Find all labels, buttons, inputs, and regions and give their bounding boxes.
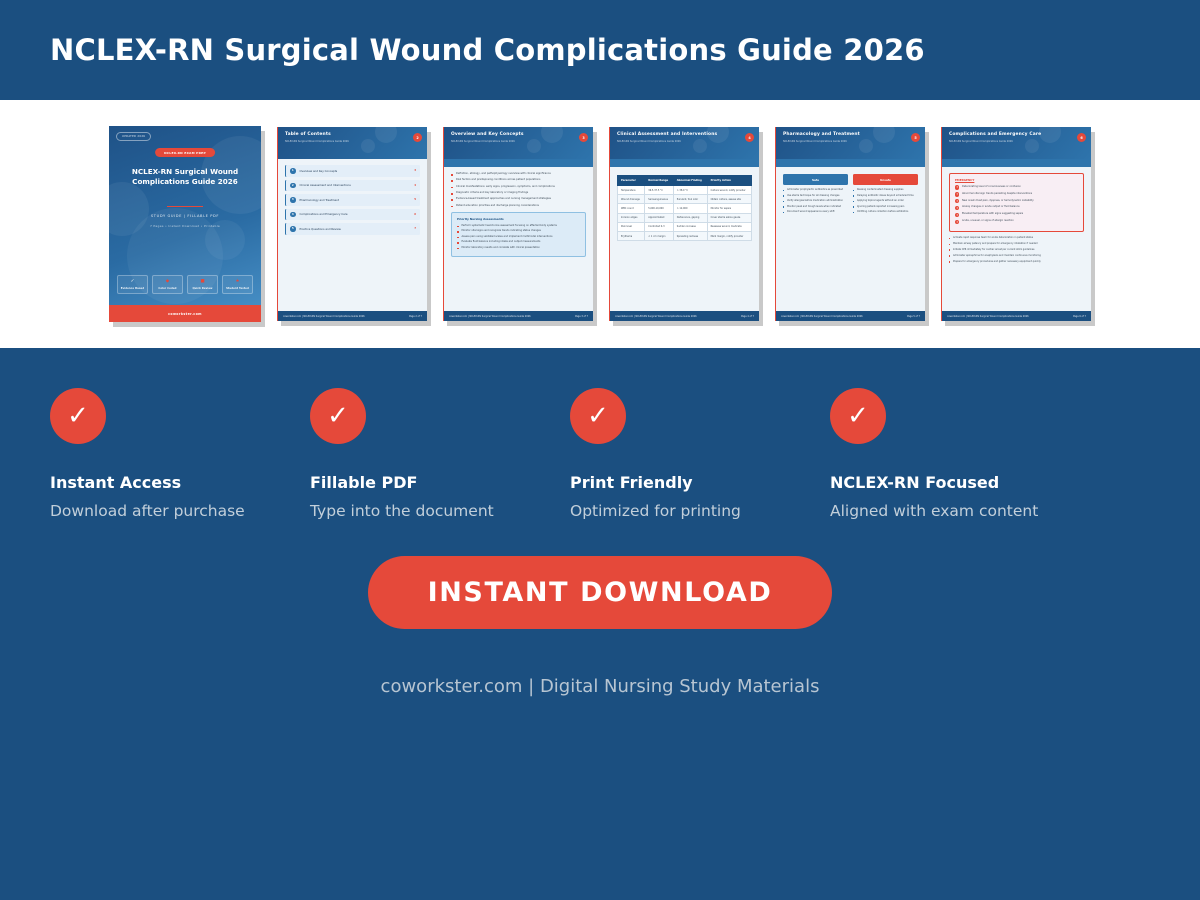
page-header-band: Complications and Emergency Care NCLEX-R… [942, 127, 1091, 159]
page-header-band: Pharmacology and Treatment NCLEX-RN Surg… [776, 127, 925, 159]
list-item: Diagnostic criteria and key laboratory o… [451, 192, 586, 195]
table-cell: Mark margin, notify provider [707, 231, 751, 240]
document-page: Complications and Emergency Care NCLEX-R… [941, 127, 1091, 321]
emergency-callout: EMERGENCY Deteriorating level of conscio… [949, 173, 1084, 232]
list-item: Maintain airway patency and prepare for … [949, 243, 1084, 246]
page-body: EMERGENCY Deteriorating level of conscio… [942, 167, 1091, 307]
updated-badge: UPDATED 2026 [116, 132, 151, 141]
toc-label: Practice Questions and Review [300, 227, 415, 231]
table-cell: Culture wound, notify provider [707, 186, 751, 195]
feature-instant-access: ✓ Instant Access Download after purchase [50, 388, 310, 520]
page-number-badge: 2 [413, 133, 422, 142]
feature-nclex-focused: ✓ NCLEX-RN Focused Aligned with exam con… [830, 388, 1090, 520]
table-cell: Controlled 0-3 [645, 222, 673, 231]
check-icon: ✓ [830, 388, 886, 444]
table-cell: WBC count [618, 204, 645, 213]
list-item: Definition, etiology, and pathophysiolog… [451, 173, 586, 176]
feature-fillable-pdf: ✓ Fillable PDF Type into the document [310, 388, 570, 520]
emergency-list: Deteriorating level of consciousness or … [955, 186, 1078, 223]
table-cell: Temperature [618, 186, 645, 195]
feature-description: Download after purchase [50, 502, 310, 520]
check-icon: ✓ [570, 388, 626, 444]
column-header: Parameter [618, 176, 645, 186]
page-number-badge: 4 [745, 133, 754, 142]
cta-area: INSTANT DOWNLOAD [0, 556, 1200, 629]
table-cell: > 38.0 °C [673, 186, 707, 195]
feature-title: Instant Access [50, 473, 310, 492]
document-page: Table of Contents NCLEX-RN Surgical Woun… [277, 127, 427, 321]
page-header-band: Table of Contents NCLEX-RN Surgical Woun… [278, 127, 427, 159]
list-item: Airway changes or acute output or fluid … [955, 206, 1078, 209]
diamond-icon: ◆ [154, 280, 181, 285]
table-row: Wound drainage Serosanguineous Purulent,… [618, 195, 752, 204]
list-item: Monitor laboratory results and correlate… [457, 247, 580, 250]
site-footer: coworkster.com | Digital Nursing Study M… [0, 676, 1200, 697]
feature-description: Optimized for printing [570, 502, 830, 520]
column-header: Abnormal Finding [673, 176, 707, 186]
safe-unsafe-columns: Safe Administer prophylactic antibiotics… [783, 174, 918, 217]
page-footer: coworkster.com | NCLEX-RN Surgical Wound… [776, 311, 925, 321]
table-cell: Dehiscence, gaping [673, 213, 707, 222]
list-item: Abnormal vital sign trends persisting de… [955, 193, 1078, 196]
table-row: Temperature 36.5-37.5 °C > 38.0 °C Cultu… [618, 186, 752, 195]
page-number-badge: 3 [579, 133, 588, 142]
list-item: Ignoring patient-reported increasing pai… [853, 206, 918, 209]
page-number-badge: 6 [1077, 133, 1086, 142]
page-footer-right: Page 3 of 7 [575, 315, 588, 318]
list-item: Use sterile technique for all dressing c… [783, 195, 848, 198]
page-footer-left: coworkster.com | NCLEX-RN Surgical Wound… [947, 315, 1029, 318]
table-cell: Cover sterile saline gauze [707, 213, 751, 222]
toc-label: Overview and Key Concepts [300, 169, 415, 173]
callout-list: Perform systematic head-to-toe assessmen… [457, 225, 580, 249]
assessment-table: Parameter Normal Range Abnormal Finding … [617, 175, 752, 241]
table-cell: < 1 cm margin [645, 231, 673, 240]
list-item: Delaying antibiotic doses beyond schedul… [853, 195, 918, 198]
section-subtitle: NCLEX-RN Surgical Wound Complications Gu… [783, 140, 918, 143]
page-footer: coworkster.com | NCLEX-RN Surgical Wound… [942, 311, 1091, 321]
list-item: Deteriorating level of consciousness or … [955, 186, 1078, 189]
table-cell: Approximated [645, 213, 673, 222]
list-item: Verify allergies before medication admin… [783, 200, 848, 203]
list-item: Document wound appearance every shift [783, 211, 848, 214]
list-item[interactable]: 1 Overview and Key Concepts 3 [285, 165, 420, 177]
table-cell: Pain level [618, 222, 645, 231]
thumbnail-cover[interactable]: UPDATED 2026 NCLEX-RN EXAM PREP NCLEX-RN… [109, 126, 261, 322]
thumbnail-page-2[interactable]: Table of Contents NCLEX-RN Surgical Woun… [277, 127, 427, 321]
table-cell: Incision edges [618, 213, 645, 222]
table-of-contents: 1 Overview and Key Concepts 3 2 Clinical… [285, 165, 420, 235]
table-cell: 36.5-37.5 °C [645, 186, 673, 195]
list-item: Monitor peak and trough levels when indi… [783, 206, 848, 209]
list-item: New onset chest pain, dyspnea, or hemody… [955, 200, 1078, 203]
list-item[interactable]: 4 Complications and Emergency Care 6 [285, 209, 420, 221]
column-header: Priority Action [707, 176, 751, 186]
list-item: Monitor vital signs and recognize trends… [457, 230, 580, 233]
section-title: Complications and Emergency Care [949, 132, 1084, 137]
list-item[interactable]: 3 Pharmacology and Treatment 5 [285, 194, 420, 206]
page-body: Parameter Normal Range Abnormal Finding … [610, 167, 759, 307]
safe-list: Administer prophylactic antibiotics as p… [783, 189, 848, 214]
bullet-list: Definition, etiology, and pathophysiolog… [451, 173, 586, 207]
list-item: Evidence-based treatment approaches and … [451, 198, 586, 201]
toc-number: 1 [290, 168, 296, 174]
document-page: Clinical Assessment and Interventions NC… [609, 127, 759, 321]
cover-meta: 7 Pages • Instant Download • Printable [109, 224, 261, 228]
page-body: Safe Administer prophylactic antibiotics… [776, 167, 925, 307]
table-row: WBC count 5,000-10,000 > 12,000 Monitor … [618, 204, 752, 213]
unsafe-column: Unsafe Reusing contaminated dressing sup… [853, 174, 918, 217]
safe-column: Safe Administer prophylactic antibiotics… [783, 174, 848, 217]
page-footer-left: coworkster.com | NCLEX-RN Surgical Wound… [449, 315, 531, 318]
page-footer-right: Page 2 of 7 [409, 315, 422, 318]
document-page: Pharmacology and Treatment NCLEX-RN Surg… [775, 127, 925, 321]
toc-page-number: 6 [414, 213, 416, 216]
thumbnail-page-6[interactable]: Complications and Emergency Care NCLEX-R… [941, 127, 1091, 321]
section-subtitle: NCLEX-RN Surgical Wound Complications Gu… [285, 140, 420, 143]
page-number-badge: 5 [911, 133, 920, 142]
page-footer: coworkster.com | NCLEX-RN Surgical Wound… [278, 311, 427, 321]
toc-number: 3 [290, 197, 296, 203]
cover-page: UPDATED 2026 NCLEX-RN EXAM PREP NCLEX-RN… [109, 126, 261, 322]
section-subtitle: NCLEX-RN Surgical Wound Complications Gu… [949, 140, 1084, 143]
cover-footer: coworkster.com [109, 305, 261, 322]
list-item: Reusing contaminated dressing supplies [853, 189, 918, 192]
preview-thumbnail-strip: UPDATED 2026 NCLEX-RN EXAM PREP NCLEX-RN… [0, 100, 1200, 348]
unsafe-list: Reusing contaminated dressing supplies D… [853, 189, 918, 214]
accent-band [444, 159, 593, 167]
emergency-title: EMERGENCY [955, 178, 1078, 182]
cover-subtitle: STUDY GUIDE | FILLABLE PDF [109, 214, 261, 218]
toc-number: 5 [290, 226, 296, 232]
feature-description: Type into the document [310, 502, 570, 520]
list-item: Clinical manifestations: early signs, pr… [451, 186, 586, 189]
table-cell: > 12,000 [673, 204, 707, 213]
table-cell: Reassess wound, medicate [707, 222, 751, 231]
column-header: Normal Range [645, 176, 673, 186]
list-item: Perform systematic head-to-toe assessmen… [457, 225, 580, 228]
table-header-row: Parameter Normal Range Abnormal Finding … [618, 176, 752, 186]
table-cell: 5,000-10,000 [645, 204, 673, 213]
list-item: Administer prophylactic antibiotics as p… [783, 189, 848, 192]
check-icon: ✓ [50, 388, 106, 444]
list-item: Prepare for emergency procedures and gat… [949, 261, 1084, 264]
cover-feature-row: ✓ Evidence Based ◆ Color Coded ■ Quick R… [117, 275, 253, 295]
square-icon: ■ [189, 280, 216, 285]
page-body: 1 Overview and Key Concepts 3 2 Clinical… [278, 159, 427, 299]
cover-feature-item: ■ Quick Review [187, 275, 218, 295]
section-title: Table of Contents [285, 132, 420, 137]
check-icon: ✓ [119, 280, 146, 285]
document-page: Overview and Key Concepts NCLEX-RN Surgi… [443, 127, 593, 321]
toc-label: Clinical Assessment and Interventions [300, 183, 415, 187]
list-item: Patient education priorities and dischar… [451, 205, 586, 208]
toc-label: Complications and Emergency Care [300, 212, 415, 216]
list-item[interactable]: 2 Clinical Assessment and Interventions … [285, 180, 420, 192]
list-item: Risk factors and predisposing conditions… [451, 179, 586, 182]
list-item: Omitting culture collection before antib… [853, 211, 918, 214]
feature-row: ✓ Instant Access Download after purchase… [0, 348, 1200, 520]
list-item: Evaluate fluid balance including intake … [457, 241, 580, 244]
section-subtitle: NCLEX-RN Surgical Wound Complications Gu… [617, 140, 752, 143]
instant-download-button[interactable]: INSTANT DOWNLOAD [368, 556, 833, 629]
table-cell: Erythema [618, 231, 645, 240]
list-item: Acute, unusual, or signs of allergic rea… [955, 220, 1078, 223]
page-footer-left: coworkster.com | NCLEX-RN Surgical Wound… [781, 315, 863, 318]
page-body: Definition, etiology, and pathophysiolog… [444, 167, 593, 307]
toc-number: 4 [290, 212, 296, 218]
table-cell: Obtain culture, assess site [707, 195, 751, 204]
cover-divider [167, 206, 203, 207]
toc-page-number: 4 [414, 184, 416, 187]
emergency-actions-list: Activate rapid response team for acute d… [949, 237, 1084, 263]
list-item: Initiate CPR immediately for cardiac arr… [949, 249, 1084, 252]
page-footer-left: coworkster.com | NCLEX-RN Surgical Wound… [615, 315, 697, 318]
section-title: Pharmacology and Treatment [783, 132, 918, 137]
list-item[interactable]: 5 Practice Questions and Review 7 [285, 223, 420, 235]
feature-title: Print Friendly [570, 473, 830, 492]
table-cell: Spreading redness [673, 231, 707, 240]
accent-band [942, 159, 1091, 167]
accent-band [776, 159, 925, 167]
toc-number: 2 [290, 183, 296, 189]
toc-page-number: 3 [414, 169, 416, 172]
check-icon: ✓ [310, 388, 366, 444]
safe-column-header: Safe [783, 174, 848, 185]
exam-prep-pill: NCLEX-RN EXAM PREP [155, 148, 215, 157]
thumbnail-page-5[interactable]: Pharmacology and Treatment NCLEX-RN Surg… [775, 127, 925, 321]
feature-description: Aligned with exam content [830, 502, 1090, 520]
page-header-band: Overview and Key Concepts NCLEX-RN Surgi… [444, 127, 593, 159]
page-footer-right: Page 5 of 7 [907, 315, 920, 318]
page-title: NCLEX-RN Surgical Wound Complications Gu… [50, 33, 925, 67]
page-footer-left: coworkster.com | NCLEX-RN Surgical Wound… [283, 315, 365, 318]
table-row: Pain level Controlled 0-3 Sudden increas… [618, 222, 752, 231]
toc-page-number: 7 [414, 227, 416, 230]
star-icon: ★ [224, 280, 251, 285]
table-cell: Purulent, foul odor [673, 195, 707, 204]
cover-title: NCLEX-RN Surgical Wound Complications Gu… [119, 167, 251, 188]
feature-title: Fillable PDF [310, 473, 570, 492]
section-subtitle: NCLEX-RN Surgical Wound Complications Gu… [451, 140, 586, 143]
feature-print-friendly: ✓ Print Friendly Optimized for printing [570, 388, 830, 520]
thumbnail-page-3[interactable]: Overview and Key Concepts NCLEX-RN Surgi… [443, 127, 593, 321]
page-header: NCLEX-RN Surgical Wound Complications Gu… [0, 0, 1200, 100]
toc-page-number: 5 [414, 198, 416, 201]
table-cell: Monitor for sepsis [707, 204, 751, 213]
toc-label: Pharmacology and Treatment [300, 198, 415, 202]
list-item: Applying topical agents without an order [853, 200, 918, 203]
page-header-band: Clinical Assessment and Interventions NC… [610, 127, 759, 159]
table-cell: Serosanguineous [645, 195, 673, 204]
list-item: Activate rapid response team for acute d… [949, 237, 1084, 240]
section-title: Clinical Assessment and Interventions [617, 132, 752, 137]
thumbnail-page-4[interactable]: Clinical Assessment and Interventions NC… [609, 127, 759, 321]
priority-assessments-callout: Priority Nursing Assessments Perform sys… [451, 212, 586, 257]
table-row: Erythema < 1 cm margin Spreading redness… [618, 231, 752, 240]
table-row: Incision edges Approximated Dehiscence, … [618, 213, 752, 222]
table-cell: Sudden increase [673, 222, 707, 231]
section-title: Overview and Key Concepts [451, 132, 586, 137]
page-footer: coworkster.com | NCLEX-RN Surgical Wound… [610, 311, 759, 321]
page-footer: coworkster.com | NCLEX-RN Surgical Wound… [444, 311, 593, 321]
cover-feature-item: ◆ Color Coded [152, 275, 183, 295]
list-item: Administer epinephrine for anaphylaxis a… [949, 255, 1084, 258]
table-cell: Wound drainage [618, 195, 645, 204]
accent-band [610, 159, 759, 167]
unsafe-column-header: Unsafe [853, 174, 918, 185]
list-item: Elevated temperature with signs suggesti… [955, 213, 1078, 216]
cover-feature-item: ★ Student Tested [222, 275, 253, 295]
feature-title: NCLEX-RN Focused [830, 473, 1090, 492]
cover-feature-item: ✓ Evidence Based [117, 275, 148, 295]
callout-title: Priority Nursing Assessments [457, 217, 580, 221]
page-footer-right: Page 4 of 7 [741, 315, 754, 318]
list-item: Assess pain using validated scales and i… [457, 236, 580, 239]
page-footer-right: Page 6 of 7 [1073, 315, 1086, 318]
